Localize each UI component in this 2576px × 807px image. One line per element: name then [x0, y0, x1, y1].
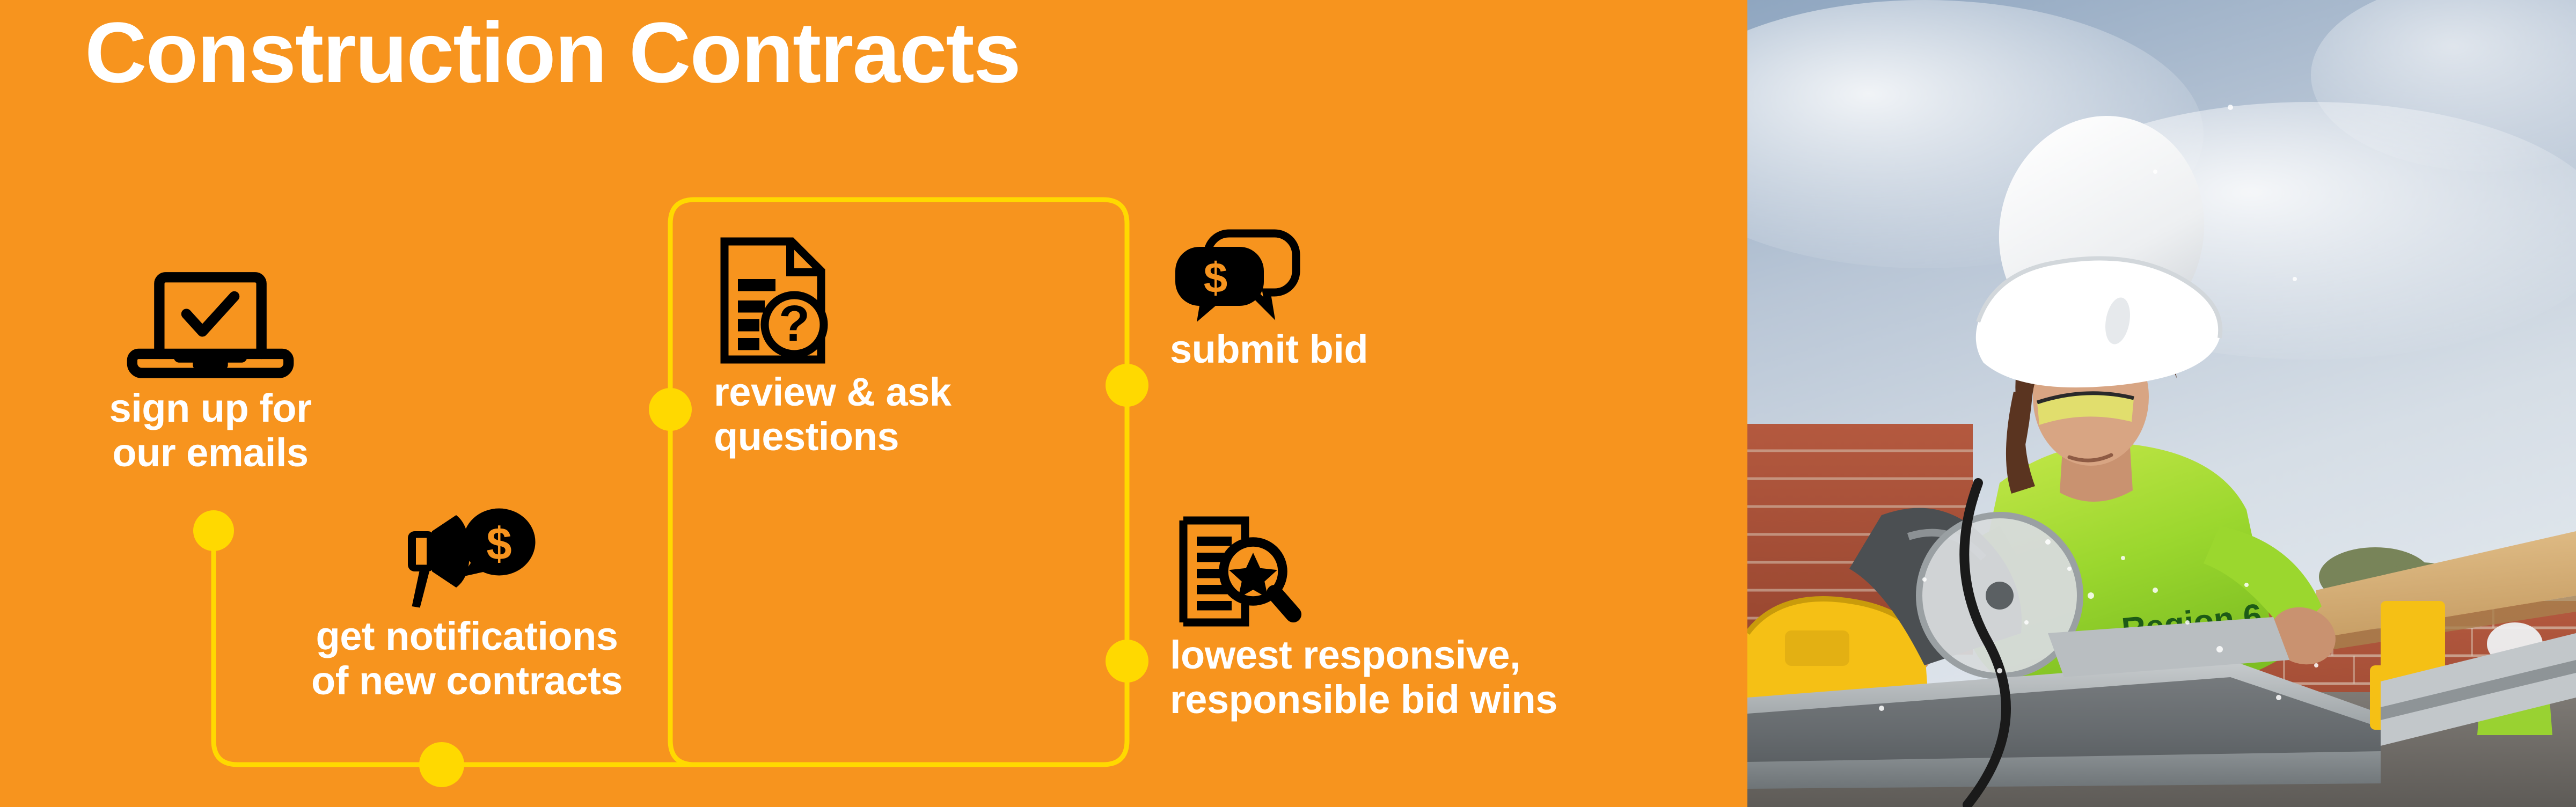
document-magnifier-star-icon — [1170, 515, 1304, 628]
step-label-sign-up: sign up for our emails — [71, 386, 350, 475]
step-get-notifications[interactable]: $ get notifications of new contracts — [290, 502, 644, 703]
step-lowest-bid-wins[interactable]: lowest responsive, responsible bid wins — [1170, 515, 1626, 722]
step-review-ask-questions[interactable]: ? review & ask questions — [714, 236, 1100, 459]
step-label-submit-bid: submit bid — [1170, 327, 1546, 372]
laptop-checkmark-icon — [122, 263, 299, 381]
svg-text:$: $ — [486, 519, 511, 570]
document-question-icon: ? — [714, 236, 837, 365]
page-title: Construction Contracts — [85, 8, 1020, 98]
speech-bubbles-dollar-icon: $ — [1170, 225, 1304, 322]
banner-root: Construction Contracts sign up for our e… — [0, 0, 2576, 807]
step-label-review-ask-questions: review & ask questions — [714, 370, 1100, 459]
step-submit-bid[interactable]: $ submit bid — [1170, 225, 1546, 372]
svg-text:?: ? — [779, 295, 810, 352]
construction-worker-photo: Region 6 — [1747, 0, 2576, 807]
step-label-get-notifications: get notifications of new contracts — [290, 614, 644, 703]
svg-text:$: $ — [1204, 254, 1228, 302]
step-label-lowest-bid-wins: lowest responsive, responsible bid wins — [1170, 633, 1626, 722]
photo-illustration: Region 6 — [1747, 0, 2576, 807]
megaphone-dollar-icon: $ — [392, 502, 542, 609]
step-sign-up[interactable]: sign up for our emails — [71, 263, 350, 475]
